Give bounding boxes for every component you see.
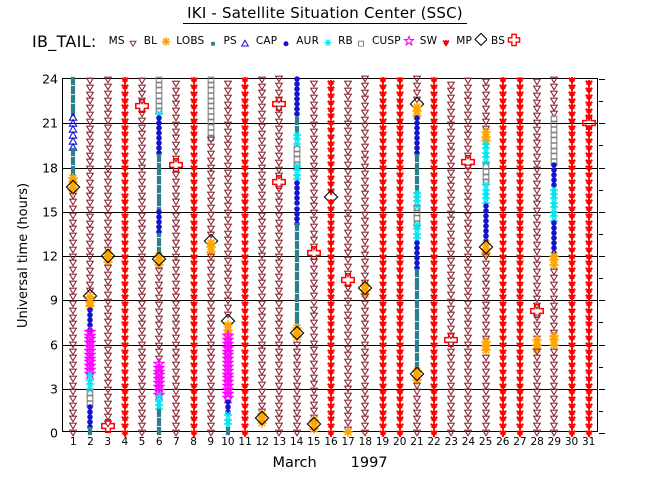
data-marker-ms [258, 219, 266, 226]
data-marker-ms [275, 348, 283, 355]
data-marker-ms [447, 341, 455, 348]
data-marker-ms [155, 308, 163, 315]
data-marker-ms [447, 402, 455, 409]
x-axis-tick-label: 6 [156, 436, 163, 448]
data-marker-aur [292, 131, 301, 140]
data-marker-ms [207, 191, 215, 198]
data-marker-lobs [157, 417, 162, 422]
data-marker-ms [86, 220, 94, 227]
data-marker-lobs [157, 158, 162, 163]
data-marker-ms [344, 399, 352, 406]
data-marker-ms [413, 423, 421, 430]
data-marker-ms [464, 192, 472, 199]
data-marker-lobs [157, 233, 162, 238]
data-marker-ms [172, 135, 180, 142]
data-marker-ms [104, 312, 112, 319]
data-marker-ms [310, 272, 318, 279]
data-marker-ms [258, 382, 266, 389]
data-marker-ms [464, 362, 472, 369]
data-marker-ms [86, 166, 94, 173]
data-marker-ms [138, 301, 146, 308]
chart-title-container: IKI - Satellite Situation Center (SSC) [0, 3, 650, 24]
data-marker-ms [69, 389, 77, 396]
data-marker-ms [138, 246, 146, 253]
data-marker-ms [464, 321, 472, 328]
data-marker-ms [482, 119, 490, 126]
data-marker-lobs [414, 326, 419, 331]
data-marker-ms [172, 233, 180, 240]
data-marker-ms [207, 368, 215, 375]
data-marker-ms [138, 206, 146, 213]
data-marker-ms [344, 114, 352, 121]
data-marker-ps [69, 113, 78, 121]
data-marker-ms [138, 172, 146, 179]
data-marker-ms [138, 341, 146, 348]
data-marker-ms [533, 269, 541, 276]
x-axis-tick-label: 19 [376, 436, 389, 448]
data-marker-ms [69, 253, 77, 260]
y-axis-tick-mark [599, 123, 605, 124]
data-marker-lobs [71, 99, 76, 104]
data-marker-ms [447, 258, 455, 265]
data-marker-ms [86, 173, 94, 180]
data-marker-ms [310, 189, 318, 196]
data-marker-ms [533, 235, 541, 242]
data-marker-ms [533, 242, 541, 249]
data-marker-ms [533, 348, 541, 355]
data-marker-lobs [414, 268, 419, 273]
data-marker-lobs [71, 94, 76, 99]
legend: IB_TAIL: MSBLLOBSPSCAPAURRBCUSPSWMPBS [32, 31, 524, 51]
data-marker-ms [69, 321, 77, 328]
data-marker-ms [344, 325, 352, 332]
data-marker-ms [464, 328, 472, 335]
data-marker-ms [258, 321, 266, 328]
data-marker-lobs [294, 227, 299, 232]
data-marker-ms [550, 375, 558, 382]
data-marker-aur [412, 188, 421, 197]
data-marker-ms [361, 225, 369, 232]
data-marker-ms [361, 314, 369, 321]
legend-items: MSBLLOBSPSCAPAURRBCUSPSWMPBS [109, 33, 525, 49]
x-axis-title: March1997 [62, 455, 598, 471]
data-marker-ms [104, 373, 112, 380]
data-marker-cap [87, 306, 94, 313]
data-marker-ms [361, 416, 369, 423]
filled-circle-icon [278, 33, 293, 49]
data-marker-ms [172, 341, 180, 348]
data-marker-ms [447, 115, 455, 122]
data-marker-ms [138, 77, 146, 84]
data-marker-sw [584, 123, 593, 132]
data-marker-ms [155, 335, 163, 342]
x-axis-tick-label: 29 [548, 436, 561, 448]
data-marker-ms [464, 145, 472, 152]
data-marker-ms [464, 125, 472, 132]
data-marker-ms [344, 202, 352, 209]
plot-area: 03691215182124 1234567891011121314151617… [62, 78, 598, 432]
data-marker-ms [447, 382, 455, 389]
data-marker-ms [344, 107, 352, 114]
data-marker-ms [258, 90, 266, 97]
data-marker-ms [361, 116, 369, 123]
data-marker-ms [447, 210, 455, 217]
data-marker-ms [224, 115, 232, 122]
data-marker-lobs [225, 426, 230, 431]
data-marker-ms [344, 175, 352, 182]
data-marker-ms [138, 138, 146, 145]
data-marker-ms [258, 314, 266, 321]
data-marker-ms [224, 278, 232, 285]
data-marker-ms [275, 132, 283, 139]
data-marker-sw [515, 76, 524, 85]
data-marker-lobs [414, 335, 419, 340]
data-marker-ms [533, 126, 541, 133]
data-marker-ms [258, 171, 266, 178]
data-marker-ms [447, 176, 455, 183]
x-axis-tick-label: 28 [530, 436, 543, 448]
data-marker-ms [361, 259, 369, 266]
data-marker-ms [344, 243, 352, 250]
data-marker-ms [138, 212, 146, 219]
data-marker-ms [361, 109, 369, 116]
data-marker-ms [155, 342, 163, 349]
data-marker-ms [275, 409, 283, 416]
data-marker-ms [224, 122, 232, 129]
data-marker-ms [104, 111, 112, 118]
small-square-icon [205, 33, 220, 49]
data-marker-ms [69, 287, 77, 294]
data-marker-ms [207, 362, 215, 369]
data-marker-ms [207, 375, 215, 382]
data-marker-ms [138, 368, 146, 375]
data-marker-ms [224, 155, 232, 162]
data-marker-ms [104, 366, 112, 373]
data-marker-lobs [414, 348, 419, 353]
data-marker-lobs [414, 282, 419, 287]
data-marker-ms [482, 423, 490, 430]
x-axis-tick-label: 31 [582, 436, 595, 448]
data-marker-ms [361, 82, 369, 89]
data-marker-ms [207, 430, 215, 437]
data-marker-ms [138, 287, 146, 294]
data-marker-ms [172, 287, 180, 294]
data-marker-ms [344, 148, 352, 155]
data-marker-mp [306, 417, 321, 432]
data-marker-bl [222, 320, 233, 331]
data-marker-ms [138, 192, 146, 199]
data-marker-ms [464, 273, 472, 280]
x-axis-tick-label: 14 [290, 436, 303, 448]
data-marker-ms [310, 176, 318, 183]
data-marker-ms [207, 178, 215, 185]
data-marker-ms [172, 273, 180, 280]
y-axis-minor-tick-mark [599, 101, 603, 102]
data-marker-ms [344, 338, 352, 345]
data-marker-ms [550, 389, 558, 396]
data-marker-ms [224, 305, 232, 312]
data-marker-ms [533, 160, 541, 167]
data-marker-ms [138, 226, 146, 233]
data-marker-ms [413, 402, 421, 409]
data-marker-ms [138, 151, 146, 158]
data-marker-ms [344, 372, 352, 379]
legend-item-label: MP [456, 35, 472, 47]
data-marker-ms [172, 335, 180, 342]
data-marker-lobs [71, 90, 76, 95]
data-marker-ms [533, 133, 541, 140]
data-marker-ms [482, 430, 490, 437]
data-marker-lobs [414, 171, 419, 176]
data-marker-ms [275, 105, 283, 112]
data-marker-ms [258, 165, 266, 172]
data-marker-ms [310, 81, 318, 88]
data-marker-ms [533, 119, 541, 126]
data-marker-ms [361, 396, 369, 403]
data-marker-ms [207, 402, 215, 409]
data-marker-ms [310, 340, 318, 347]
legend-item-label: CAP [256, 35, 277, 47]
data-marker-ms [224, 169, 232, 176]
data-marker-ms [447, 224, 455, 231]
data-marker-ms [86, 139, 94, 146]
data-marker-ms [447, 230, 455, 237]
legend-item-bl: BL [144, 33, 173, 49]
data-marker-ms [207, 144, 215, 151]
data-marker-ms [86, 254, 94, 261]
data-marker-ms [258, 388, 266, 395]
data-marker-ms [69, 233, 77, 240]
data-marker-ms [361, 157, 369, 164]
data-marker-ms [172, 267, 180, 274]
data-marker-ms [361, 265, 369, 272]
data-marker-ms [258, 185, 266, 192]
data-marker-lobs [157, 431, 162, 436]
data-marker-ms [413, 396, 421, 403]
data-marker-lobs [157, 189, 162, 194]
data-marker-ms [344, 168, 352, 175]
data-marker-ms [482, 99, 490, 106]
data-marker-ms [344, 284, 352, 291]
data-marker-ms [224, 101, 232, 108]
data-marker-ms [361, 232, 369, 239]
data-marker-ms [275, 368, 283, 375]
data-marker-ms [447, 251, 455, 258]
data-marker-lobs [71, 107, 76, 112]
data-marker-ms [104, 400, 112, 407]
x-axis-month-label: March [272, 455, 316, 471]
data-marker-ms [155, 301, 163, 308]
data-marker-ms [155, 295, 163, 302]
data-marker-ms [533, 255, 541, 262]
data-marker-ms [533, 214, 541, 221]
y-axis-tick-mark [599, 300, 605, 301]
data-marker-lobs [157, 202, 162, 207]
data-marker-cap [413, 114, 420, 121]
data-marker-ms [207, 382, 215, 389]
legend-item-lobs: LOBS [176, 33, 220, 49]
data-marker-ms [550, 402, 558, 409]
x-axis-tick-label: 23 [445, 436, 458, 448]
y-axis-minor-tick-mark [599, 367, 603, 368]
data-marker-ms [275, 267, 283, 274]
data-marker-ms [69, 260, 77, 267]
data-marker-ms [310, 169, 318, 176]
data-marker-ms [172, 423, 180, 430]
data-marker-ms [275, 233, 283, 240]
data-marker-sw [498, 76, 507, 85]
data-marker-mp [409, 367, 424, 382]
data-marker-ms [207, 328, 215, 335]
data-marker-ms [207, 294, 215, 301]
data-marker-ms [258, 144, 266, 151]
data-marker-ms [86, 274, 94, 281]
data-marker-ms [310, 101, 318, 108]
data-marker-lobs [414, 277, 419, 282]
data-marker-ms [310, 217, 318, 224]
data-marker-ms [69, 307, 77, 314]
data-marker-ms [172, 114, 180, 121]
data-marker-ms [464, 219, 472, 226]
burst-icon [438, 33, 453, 49]
y-axis-minor-tick-mark [599, 322, 603, 323]
data-marker-lobs [157, 413, 162, 418]
data-marker-ms [138, 355, 146, 362]
data-marker-ms [138, 389, 146, 396]
data-marker-ms [172, 348, 180, 355]
data-marker-ms [344, 216, 352, 223]
data-marker-cap [482, 203, 489, 210]
data-marker-ms [275, 253, 283, 260]
data-marker-ms [464, 178, 472, 185]
data-marker-ms [86, 281, 94, 288]
legend-item-sw: SW [420, 33, 453, 49]
data-marker-ms [464, 105, 472, 112]
data-marker-ms [138, 240, 146, 247]
data-marker-ms [207, 198, 215, 205]
data-marker-ms [258, 327, 266, 334]
data-marker-lobs [414, 308, 419, 313]
data-marker-ms [550, 382, 558, 389]
data-marker-ms [413, 416, 421, 423]
asterisk-icon [158, 33, 173, 49]
data-marker-ms [533, 106, 541, 113]
data-marker-ms [172, 206, 180, 213]
data-marker-ms [69, 416, 77, 423]
data-marker-ms [361, 272, 369, 279]
data-marker-ms [172, 108, 180, 115]
data-marker-ms [464, 253, 472, 260]
data-marker-rb [87, 389, 94, 396]
data-marker-ms [344, 332, 352, 339]
data-marker-ms [447, 190, 455, 197]
data-marker-ms [464, 206, 472, 213]
data-marker-lobs [157, 237, 162, 242]
data-marker-aur [481, 181, 490, 190]
open-square-icon [354, 33, 369, 49]
data-marker-cusp [153, 358, 165, 370]
data-marker-lobs [157, 184, 162, 189]
data-marker-ms [104, 233, 112, 240]
y-axis-tick-label: 3 [50, 381, 58, 396]
data-marker-ms [447, 95, 455, 102]
data-marker-ms [310, 223, 318, 230]
legend-item-cusp: CUSP [372, 33, 417, 49]
data-marker-ms [275, 423, 283, 430]
data-marker-ms [172, 94, 180, 101]
data-marker-ms [172, 212, 180, 219]
data-marker-ms [172, 101, 180, 108]
data-marker-ms [361, 301, 369, 308]
data-marker-lobs [88, 431, 93, 436]
data-marker-ms [310, 265, 318, 272]
data-marker-ms [224, 94, 232, 101]
data-marker-ms [447, 81, 455, 88]
data-marker-ms [207, 211, 215, 218]
data-marker-ms [310, 401, 318, 408]
data-marker-ms [533, 355, 541, 362]
data-marker-ms [533, 248, 541, 255]
data-marker-ms [138, 199, 146, 206]
data-marker-ms [344, 223, 352, 230]
data-marker-ms [207, 157, 215, 164]
data-marker-ms [138, 280, 146, 287]
data-marker-cusp [84, 326, 96, 338]
data-marker-lobs [294, 289, 299, 294]
data-marker-ms [86, 125, 94, 132]
data-marker-ms [482, 355, 490, 362]
data-marker-ms [86, 206, 94, 213]
data-marker-ms [69, 246, 77, 253]
data-marker-mp [255, 411, 270, 426]
data-marker-ms [344, 393, 352, 400]
data-marker-lobs [71, 77, 76, 82]
data-marker-ms [310, 327, 318, 334]
data-marker-bl [411, 102, 422, 113]
data-marker-ms [275, 206, 283, 213]
data-marker-ms [275, 83, 283, 90]
data-marker-ms [413, 389, 421, 396]
data-marker-aur [292, 162, 301, 171]
data-marker-ms [275, 260, 283, 267]
data-marker-ms [447, 163, 455, 170]
data-marker-ms [361, 362, 369, 369]
data-marker-lobs [414, 304, 419, 309]
data-marker-ms [533, 140, 541, 147]
data-marker-ms [207, 137, 215, 144]
data-marker-ms [86, 152, 94, 159]
data-marker-ms [138, 158, 146, 165]
data-marker-ms [104, 118, 112, 125]
data-marker-ms [224, 237, 232, 244]
data-marker-ms [344, 263, 352, 270]
data-marker-ms [482, 328, 490, 335]
data-marker-lobs [71, 161, 76, 166]
data-marker-ms [447, 88, 455, 95]
data-marker-lobs [157, 180, 162, 185]
data-marker-ms [361, 170, 369, 177]
data-marker-ms [344, 406, 352, 413]
data-marker-ms [464, 409, 472, 416]
data-marker-ms [104, 158, 112, 165]
data-marker-ms [344, 196, 352, 203]
data-marker-ms [447, 142, 455, 149]
data-marker-ms [207, 389, 215, 396]
data-marker-ms [464, 416, 472, 423]
data-marker-ms [361, 103, 369, 110]
triangle-up-outline-icon [238, 33, 253, 49]
x-axis-tick-label: 24 [462, 436, 475, 448]
